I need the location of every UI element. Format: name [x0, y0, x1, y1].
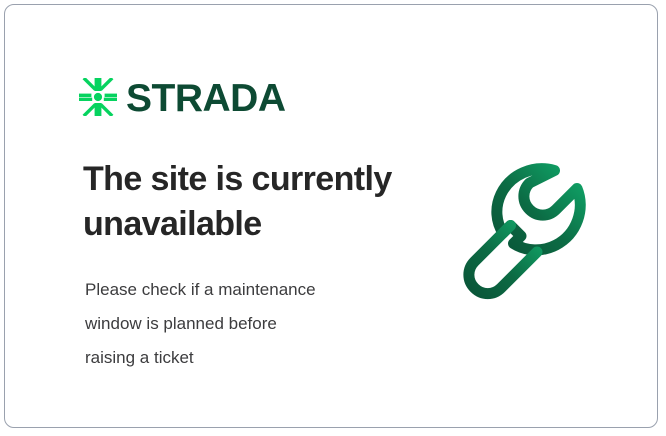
- error-page: STRADA The site is currently unavailable…: [0, 0, 666, 436]
- wrench-icon: [461, 161, 617, 315]
- page-title: The site is currently unavailable: [83, 157, 433, 247]
- strada-asterisk-icon: [79, 78, 117, 116]
- brand-lockup: STRADA: [79, 73, 286, 121]
- description-line: window is planned before: [85, 307, 405, 341]
- status-card: STRADA The site is currently unavailable…: [4, 4, 658, 428]
- brand-wordmark: STRADA: [126, 79, 286, 118]
- description-line: raising a ticket: [85, 341, 405, 375]
- page-description: Please check if a maintenance window is …: [85, 273, 405, 375]
- description-line: Please check if a maintenance: [85, 273, 405, 307]
